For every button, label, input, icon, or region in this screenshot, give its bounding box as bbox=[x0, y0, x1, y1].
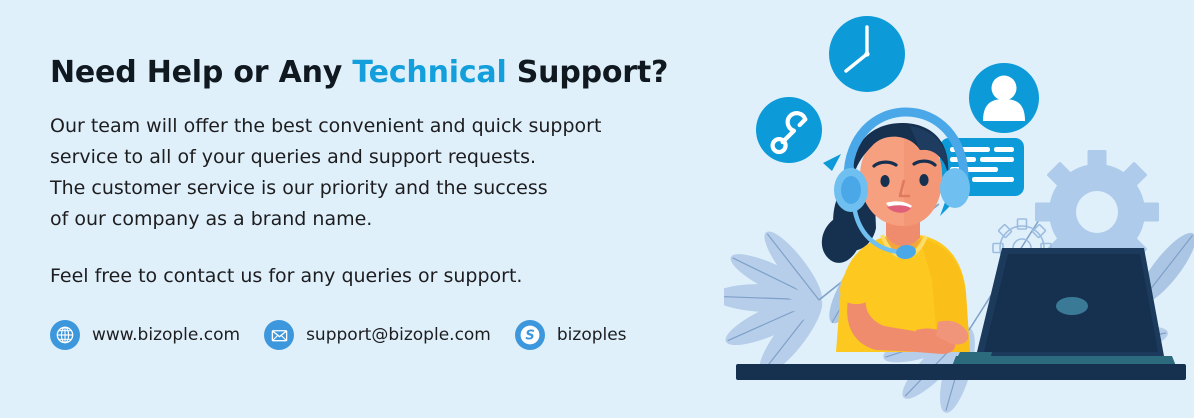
support-banner: Need Help or Any Technical Support? Our … bbox=[0, 0, 1194, 418]
user-avatar-icon bbox=[969, 63, 1039, 133]
envelope-icon bbox=[264, 320, 294, 350]
skype-label: bizoples bbox=[557, 325, 627, 345]
headline-part-2: Support? bbox=[507, 55, 669, 90]
support-illustration bbox=[724, 0, 1194, 418]
headline-accent-word: Technical bbox=[352, 55, 506, 90]
description-paragraph: Our team will offer the best convenient … bbox=[50, 89, 730, 235]
desk bbox=[736, 364, 1186, 380]
content-block: Need Help or Any Technical Support? Our … bbox=[50, 56, 730, 292]
globe-icon bbox=[50, 320, 80, 350]
svg-text:S: S bbox=[525, 329, 534, 344]
contact-item-email[interactable]: support@bizople.com bbox=[264, 320, 491, 350]
website-label: www.bizople.com bbox=[92, 325, 240, 345]
page-title: Need Help or Any Technical Support? bbox=[50, 56, 730, 89]
headline-part-1: Need Help or Any bbox=[50, 55, 352, 90]
call-to-action-paragraph: Feel free to contact us for any queries … bbox=[50, 235, 730, 292]
clock-icon bbox=[829, 16, 905, 92]
skype-icon: S bbox=[515, 320, 545, 350]
contact-item-website[interactable]: www.bizople.com bbox=[50, 320, 240, 350]
email-label: support@bizople.com bbox=[306, 325, 491, 345]
contact-item-skype[interactable]: S bizoples bbox=[515, 320, 627, 350]
contact-row: www.bizople.com support@bizople.com S bi… bbox=[50, 320, 651, 350]
